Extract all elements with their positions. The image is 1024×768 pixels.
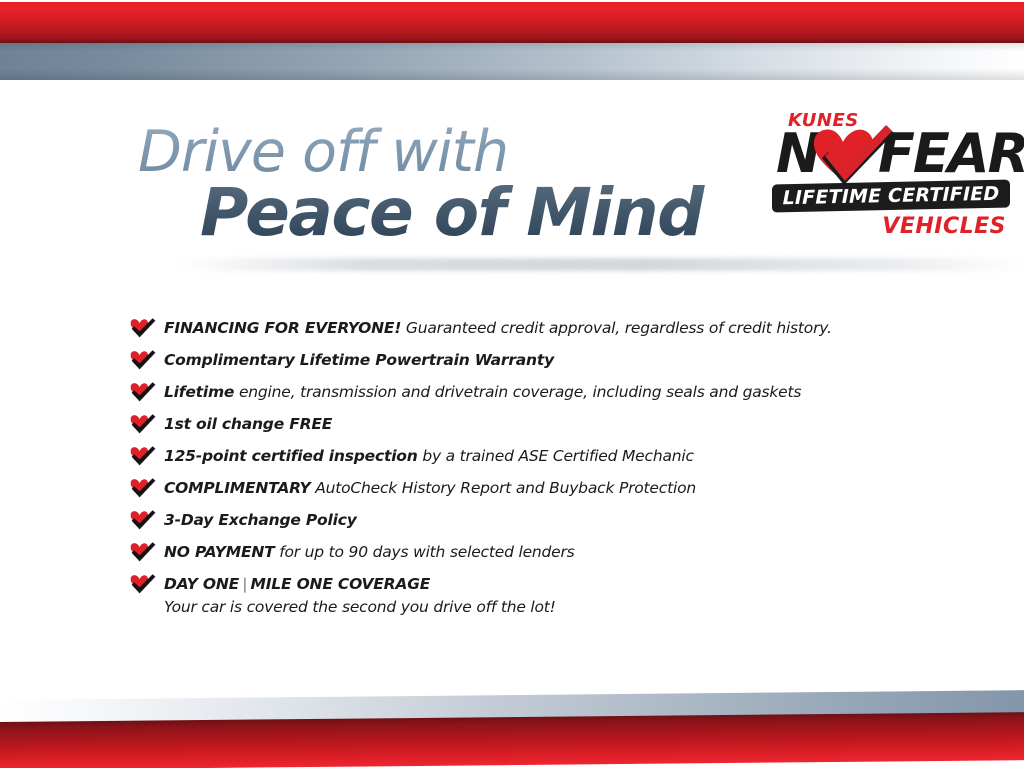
benefit-rest: AutoCheck History Report and Buyback Pro… xyxy=(310,479,696,497)
benefit-item: 1st oil change FREE xyxy=(130,408,960,440)
heart-check-bullet-icon xyxy=(130,350,156,370)
benefit-item: Lifetime engine, transmission and drivet… xyxy=(130,376,960,408)
top-red-band xyxy=(0,2,1024,43)
benefits-list: FINANCING FOR EVERYONE! Guaranteed credi… xyxy=(130,312,960,618)
top-gray-band-shading xyxy=(0,43,1024,80)
heart-check-icon xyxy=(810,125,896,189)
heart-check-bullet-icon xyxy=(130,574,156,594)
benefit-text: 1st oil change FREE xyxy=(164,414,332,434)
headline-line-1: Drive off with xyxy=(138,122,838,182)
benefit-text: Complimentary Lifetime Powertrain Warran… xyxy=(164,350,554,370)
benefit-item: COMPLIMENTARY AutoCheck History Report a… xyxy=(130,472,960,504)
benefit-subline: Your car is covered the second you drive… xyxy=(130,596,960,618)
benefit-rest: engine, transmission and drivetrain cove… xyxy=(234,383,801,401)
heart-check-bullet-icon xyxy=(130,318,156,338)
benefit-bold: Lifetime xyxy=(164,383,234,401)
benefit-bold: 1st oil change FREE xyxy=(164,415,332,433)
logo-banner-text: LIFETIME CERTIFIED xyxy=(772,180,1010,213)
benefit-bold: 125-point certified inspection xyxy=(164,447,418,465)
benefit-bold: FINANCING FOR EVERYONE! xyxy=(164,319,401,337)
promo-page: Drive off with Peace of Mind KUNES N FEA… xyxy=(0,0,1024,768)
benefit-item: 3-Day Exchange Policy xyxy=(130,504,960,536)
benefit-bold-a: DAY ONE xyxy=(164,575,239,593)
logo-nofear-lockup: N FEAR xyxy=(776,127,1012,183)
benefit-item: 125-point certified inspection by a trai… xyxy=(130,440,960,472)
heart-check-bullet-icon xyxy=(130,510,156,530)
benefit-rest: by a trained ASE Certified Mechanic xyxy=(418,447,694,465)
benefit-text: NO PAYMENT for up to 90 days with select… xyxy=(164,542,575,562)
benefit-text: 125-point certified inspection by a trai… xyxy=(164,446,694,466)
headline-divider xyxy=(180,258,1024,271)
kunes-no-fear-logo: KUNES N FEAR LIFETIME CERTIFIED VEHICLES xyxy=(772,110,1012,245)
heart-check-bullet-icon xyxy=(130,446,156,466)
benefit-bold: NO PAYMENT xyxy=(164,543,274,561)
benefit-bold: 3-Day Exchange Policy xyxy=(164,511,357,529)
benefit-bold-b: MILE ONE COVERAGE xyxy=(251,575,431,593)
logo-vehicles-text: VEHICLES xyxy=(882,214,1006,239)
benefit-bold: COMPLIMENTARY xyxy=(164,479,310,497)
heart-check-bullet-icon xyxy=(130,542,156,562)
benefit-text: Lifetime engine, transmission and drivet… xyxy=(164,382,801,402)
heart-check-bullet-icon xyxy=(130,382,156,402)
benefit-text: COMPLIMENTARY AutoCheck History Report a… xyxy=(164,478,696,498)
benefit-rest: Guaranteed credit approval, regardless o… xyxy=(401,319,832,337)
benefit-text: FINANCING FOR EVERYONE! Guaranteed credi… xyxy=(164,318,832,338)
benefit-separator: | xyxy=(239,575,250,593)
benefit-item: NO PAYMENT for up to 90 days with select… xyxy=(130,536,960,568)
benefit-item: Complimentary Lifetime Powertrain Warran… xyxy=(130,344,960,376)
heart-check-bullet-icon xyxy=(130,478,156,498)
benefit-item: FINANCING FOR EVERYONE! Guaranteed credi… xyxy=(130,312,960,344)
benefit-bold: Complimentary Lifetime Powertrain Warran… xyxy=(164,351,554,369)
logo-word-fear: FEAR xyxy=(878,127,1024,181)
bottom-red-band xyxy=(0,712,1024,768)
heart-check-bullet-icon xyxy=(130,414,156,434)
benefit-text: DAY ONE|MILE ONE COVERAGE xyxy=(164,574,430,594)
headline-line-2: Peace of Mind xyxy=(200,176,838,250)
headline: Drive off with Peace of Mind xyxy=(138,122,838,250)
benefit-text: 3-Day Exchange Policy xyxy=(164,510,357,530)
benefit-rest: for up to 90 days with selected lenders xyxy=(274,543,574,561)
